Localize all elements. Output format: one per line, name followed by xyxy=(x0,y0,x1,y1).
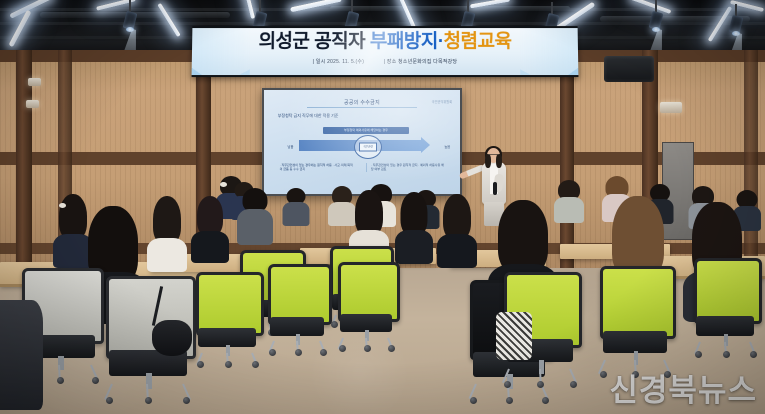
chair-caster xyxy=(106,397,113,404)
chair-back xyxy=(196,272,264,336)
attendee xyxy=(556,180,582,220)
chair-caster xyxy=(506,397,513,404)
chair-legs xyxy=(196,353,258,368)
banner-title: 의성군 공직자 부패방지·청렴교육 xyxy=(192,31,578,53)
chair-caster xyxy=(695,351,702,358)
chair-caster xyxy=(57,377,64,384)
chair-legs xyxy=(106,384,190,404)
banner-date: | 일시 2025. 11. 5.(수) xyxy=(313,59,364,65)
slide-logo: 국민권익위원회 xyxy=(432,99,453,104)
attendee xyxy=(330,186,354,224)
attendee xyxy=(398,192,430,260)
slide-title: 공공의 수수금지 xyxy=(307,99,417,108)
chair-caster xyxy=(145,397,152,404)
news-watermark: 신경북뉴스 xyxy=(609,365,757,410)
event-banner: 의성군 공직자 부패방지·청렴교육 | 일시 2025. 11. 5.(수) |… xyxy=(192,26,579,77)
office-chair[interactable] xyxy=(196,272,258,368)
chair-back xyxy=(338,262,400,322)
chair-caster xyxy=(600,371,607,378)
chair-caster xyxy=(470,397,477,404)
banner-title-gold: 청렴교육 xyxy=(444,31,512,52)
slide-bar-label: 부정청탁 예외사유에 해당하는 경우 xyxy=(323,127,409,134)
glasses-icon xyxy=(488,154,499,158)
chair-seat xyxy=(696,316,753,336)
chair-caster xyxy=(295,349,302,356)
banner-subtitle: | 일시 2025. 11. 5.(수) | 장소 청소년문화의집 다목적강당 xyxy=(192,58,578,65)
chair-legs xyxy=(338,338,394,352)
attendee xyxy=(150,196,184,266)
chair-caster xyxy=(504,381,511,388)
chair-caster xyxy=(269,349,276,356)
chair-caster xyxy=(750,351,757,358)
projector-icon xyxy=(660,102,682,113)
chair-caster xyxy=(537,381,544,388)
chair-caster xyxy=(225,361,232,368)
slide-lead-text: 부정청탁 금지 직무에 대한 적용 기준 xyxy=(278,113,339,119)
office-chair[interactable] xyxy=(600,266,670,378)
slide-chip-label: 직무관련 xyxy=(359,142,377,151)
slide-high-tag: 높음 xyxy=(444,144,450,149)
chair-caster xyxy=(723,351,730,358)
wall-pillar xyxy=(744,50,758,282)
chair-back xyxy=(268,264,332,325)
chair-legs xyxy=(268,341,326,356)
lecture-hall-photo: 의성군 공직자 부패방지·청렴교육 | 일시 2025. 11. 5.(수) |… xyxy=(0,0,765,414)
attendee xyxy=(0,300,38,414)
attendee xyxy=(240,188,270,250)
patterned-tote-bag xyxy=(496,312,532,360)
slide-column-right: · 직무관련성이 있는 경우 원칙적 금지 · 예외적 허용사유 해당 여부 검… xyxy=(366,163,445,172)
attendee xyxy=(440,194,474,264)
chair-caster xyxy=(542,397,549,404)
attendee xyxy=(194,196,226,260)
banner-title-blue: 부패방지 xyxy=(370,31,438,52)
chair-legs xyxy=(694,342,756,358)
chair-legs xyxy=(504,369,576,388)
projection-screen: 공공의 수수금지 국민권익위원회 부정청탁 금지 직무에 대한 적용 기준 부정… xyxy=(262,88,462,196)
shoulder-bag xyxy=(152,320,192,356)
wall-light-fixture xyxy=(28,78,41,86)
wall-light-fixture xyxy=(26,100,39,108)
slide-diagram-circle: 직무관련 xyxy=(354,135,382,159)
office-chair[interactable] xyxy=(694,258,756,358)
office-chair[interactable] xyxy=(268,264,326,356)
attendee xyxy=(284,188,308,224)
chair-caster xyxy=(364,345,371,352)
slide-column-left: · 직무관련성이 없는 경우에는 원칙적 허용 · 사교·의례 목적의 금품 등… xyxy=(280,163,354,172)
ceiling-speaker xyxy=(604,56,654,82)
chair-back xyxy=(694,258,762,324)
slide-diagram-bar: 부정청탁 예외사유에 해당하는 경우 xyxy=(323,127,409,134)
office-chair[interactable] xyxy=(338,262,394,352)
chair-caster xyxy=(92,377,99,384)
microphone-icon xyxy=(493,182,497,195)
chair-back xyxy=(600,266,676,339)
chair-caster xyxy=(339,345,346,352)
chair-caster xyxy=(252,361,259,368)
banner-place: | 장소 청소년문화의집 다목적강당 xyxy=(384,59,458,65)
banner-title-dark: 의성군 공직자 xyxy=(258,31,365,52)
chair-caster xyxy=(197,361,204,368)
chair-caster xyxy=(183,397,190,404)
chair-seat xyxy=(603,331,667,353)
slide-low-tag: 낮음 xyxy=(288,144,294,149)
slide-content: 공공의 수수금지 국민권익위원회 부정청탁 금지 직무에 대한 적용 기준 부정… xyxy=(264,90,460,194)
